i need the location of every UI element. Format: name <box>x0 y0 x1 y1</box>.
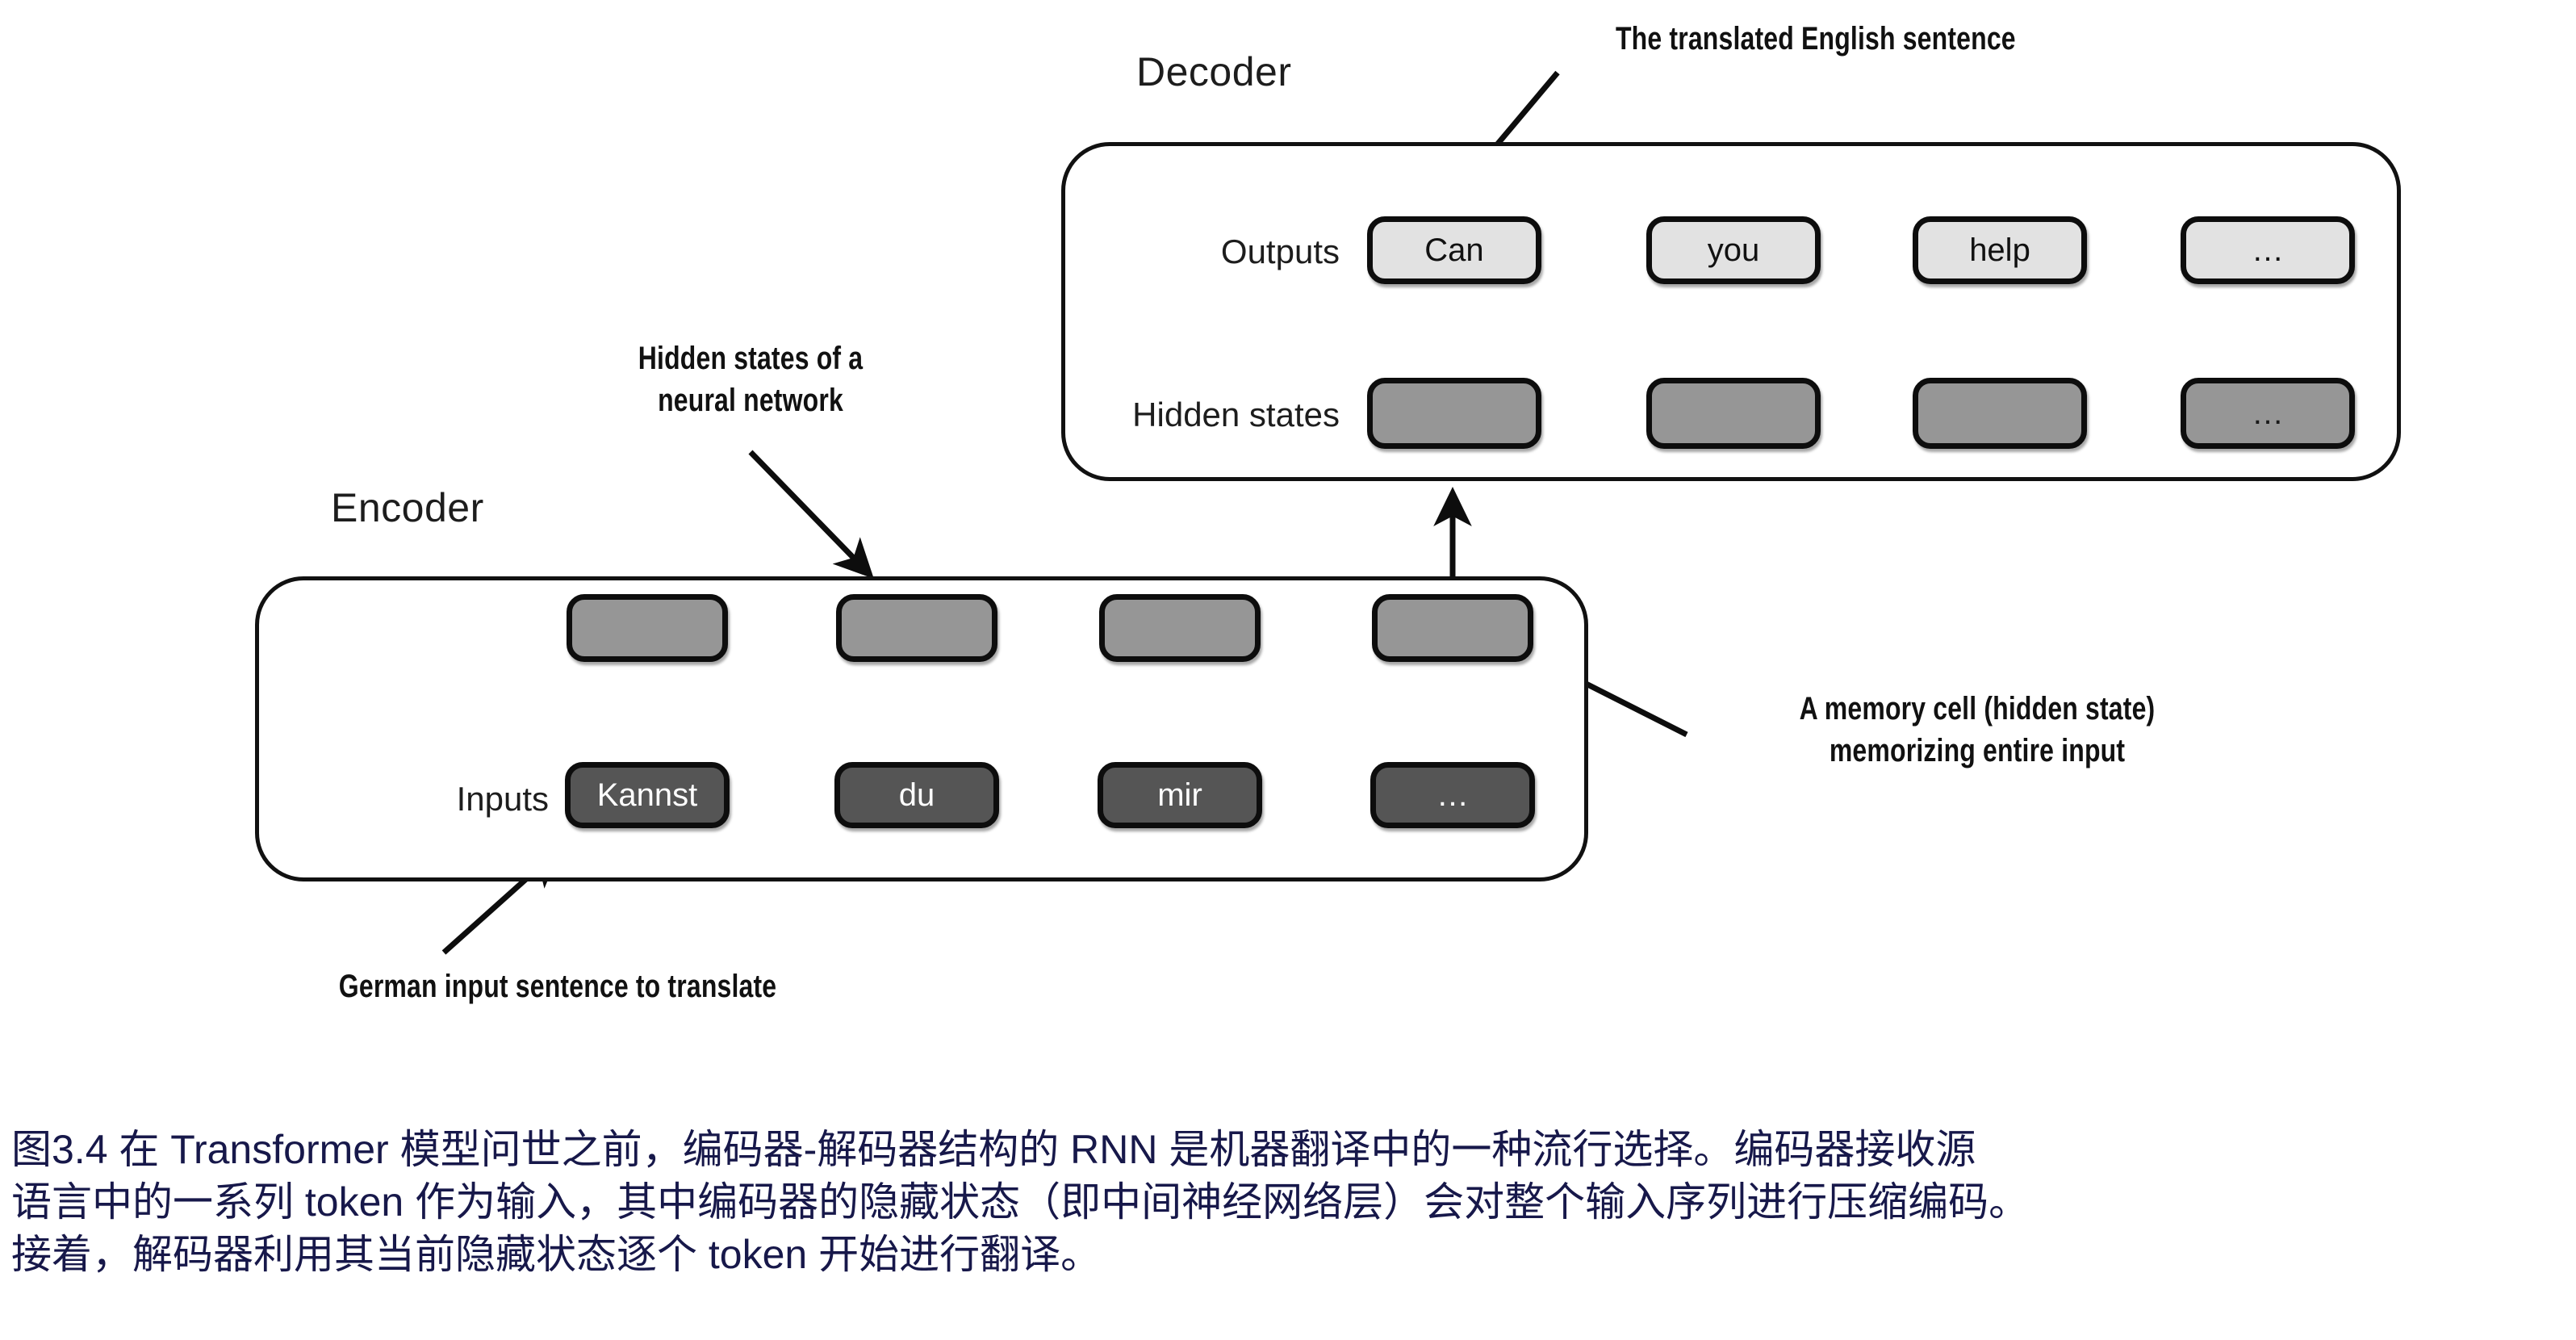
output-cell-1: you <box>1646 216 1821 284</box>
encoder-title: Encoder <box>331 484 484 531</box>
decoder-hidden-cell-3: … <box>2181 378 2355 449</box>
encoder-hidden-cell-3 <box>1372 594 1533 662</box>
inputs-row-label: Inputs <box>339 780 549 819</box>
input-cell-0: Kannst <box>565 762 730 828</box>
encoder-hidden-cell-2 <box>1099 594 1261 662</box>
output-cell-2: help <box>1913 216 2087 284</box>
callout-memory-cell-line2: memorizing entire input <box>1751 730 2203 772</box>
caption-line-2: 语言中的一系列 token 作为输入，其中编码器的隐藏状态（即中间神经网络层）会… <box>11 1176 2570 1229</box>
decoder-hidden-cell-0 <box>1367 378 1541 449</box>
decoder-hidden-cell-1 <box>1646 378 1821 449</box>
input-cell-2: mir <box>1098 762 1262 828</box>
callout-hidden-states-line2: neural network <box>602 379 899 421</box>
encoder-hidden-cell-0 <box>567 594 728 662</box>
outputs-row-label: Outputs <box>1130 232 1340 271</box>
callout-memory-cell-line1: A memory cell (hidden state) <box>1751 688 2203 730</box>
callout-german-input-sentence: German input sentence to translate <box>339 965 776 1007</box>
callout-hidden-states-line1: Hidden states of a <box>602 337 899 379</box>
figure-canvas: Decoder Outputs Hidden states Can you he… <box>0 0 2576 1340</box>
figure-caption: 图3.4 在 Transformer 模型问世之前，编码器-解码器结构的 RNN… <box>11 1124 2570 1281</box>
caption-line-1: 图3.4 在 Transformer 模型问世之前，编码器-解码器结构的 RNN… <box>11 1124 2570 1176</box>
decoder-title: Decoder <box>1136 48 1292 95</box>
callout-hidden-states-neural-network: Hidden states of a neural network <box>602 337 899 421</box>
decoder-hidden-cell-2 <box>1913 378 2087 449</box>
input-cell-1: du <box>834 762 999 828</box>
input-cell-3: … <box>1370 762 1535 828</box>
output-cell-0: Can <box>1367 216 1541 284</box>
caption-line-3: 接着，解码器利用其当前隐藏状态逐个 token 开始进行翻译。 <box>11 1229 2570 1281</box>
decoder-hidden-states-row-label: Hidden states <box>1065 396 1340 434</box>
output-cell-3: … <box>2181 216 2355 284</box>
callout-translated-sentence: The translated English sentence <box>1616 18 2016 60</box>
callout-memory-cell: A memory cell (hidden state) memorizing … <box>1751 688 2203 772</box>
encoder-hidden-cell-1 <box>836 594 997 662</box>
